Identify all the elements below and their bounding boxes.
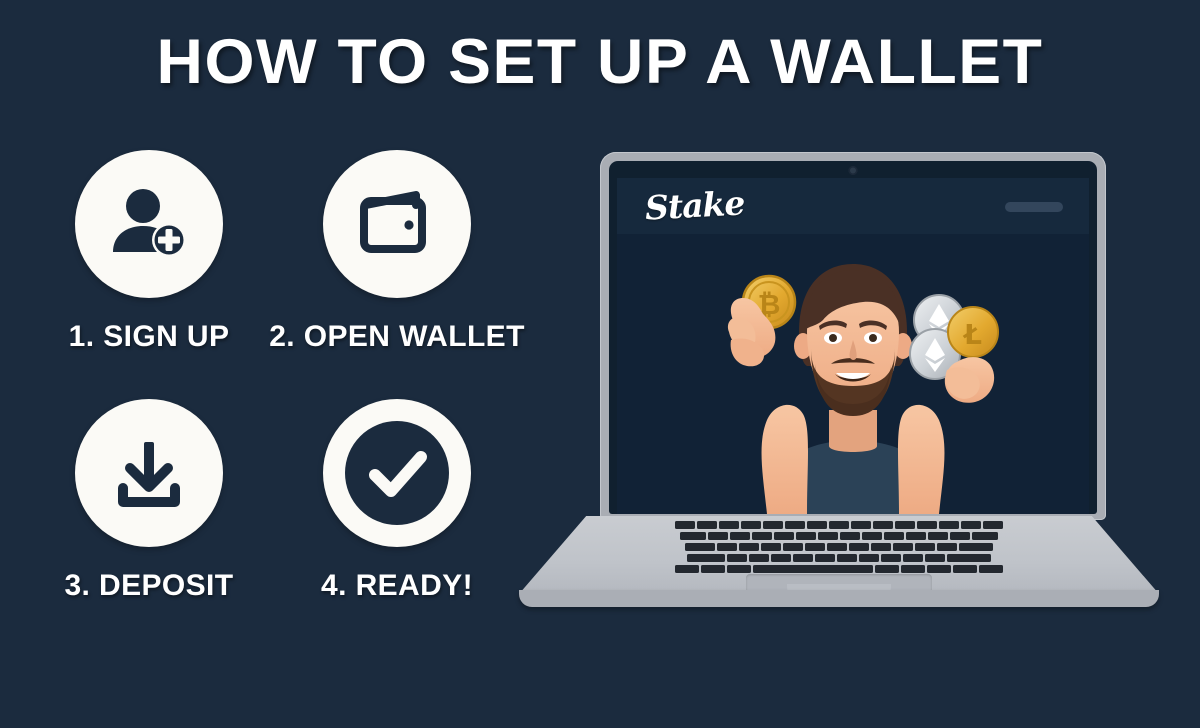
keyboard-row xyxy=(615,543,1063,551)
download-arrow-icon xyxy=(106,430,192,516)
step-icon-badge-3 xyxy=(75,399,223,547)
right-hand-with-coins: Ł xyxy=(910,295,998,403)
page-title: HOW TO SET UP A WALLET xyxy=(0,26,1200,98)
step-label-2: 2. OPEN WALLET xyxy=(269,320,525,354)
wallet-setup-infographic: HOW TO SET UP A WALLET 1. SIGN UP xyxy=(0,0,1200,728)
step-icon-badge-2 xyxy=(323,150,471,298)
step-item-deposit[interactable]: 3. DEPOSIT xyxy=(40,399,258,624)
svg-text:Ł: Ł xyxy=(962,318,982,351)
laptop-bezel: ₿ xyxy=(609,161,1097,514)
keyboard-row xyxy=(615,521,1063,529)
stake-logo[interactable]: Stake xyxy=(644,183,745,227)
step-icon-badge-1 xyxy=(75,150,223,298)
step-item-ready[interactable]: 4. READY! xyxy=(272,399,522,624)
laptop-front-edge xyxy=(519,590,1159,607)
laptop-keyboard[interactable] xyxy=(615,521,1063,573)
check-circle-icon xyxy=(333,409,461,537)
step-icon-badge-4 xyxy=(323,399,471,547)
laptop-screen: ₿ xyxy=(617,178,1089,514)
keyboard-row xyxy=(615,565,1063,573)
laptop-palmrest xyxy=(519,516,1159,594)
step-item-sign-up[interactable]: 1. SIGN UP xyxy=(40,150,258,375)
laptop-base xyxy=(519,516,1159,612)
laptop-lid: ₿ xyxy=(600,152,1106,520)
step-label-3: 3. DEPOSIT xyxy=(64,569,233,603)
keyboard-row xyxy=(615,532,1063,540)
wallet-icon xyxy=(354,181,440,267)
nav-pill-button[interactable] xyxy=(1005,202,1063,212)
keyboard-row xyxy=(615,554,1063,562)
add-user-icon xyxy=(105,180,193,268)
laptop-illustration: ₿ xyxy=(519,152,1159,652)
step-item-open-wallet[interactable]: 2. OPEN WALLET xyxy=(272,150,522,375)
webcam-icon xyxy=(849,166,858,175)
step-label-1: 1. SIGN UP xyxy=(69,320,230,354)
left-hand-with-bitcoin: ₿ xyxy=(728,276,795,366)
steps-grid: 1. SIGN UP 2. OPEN WALLET xyxy=(40,150,560,630)
step-label-4: 4. READY! xyxy=(321,569,473,603)
